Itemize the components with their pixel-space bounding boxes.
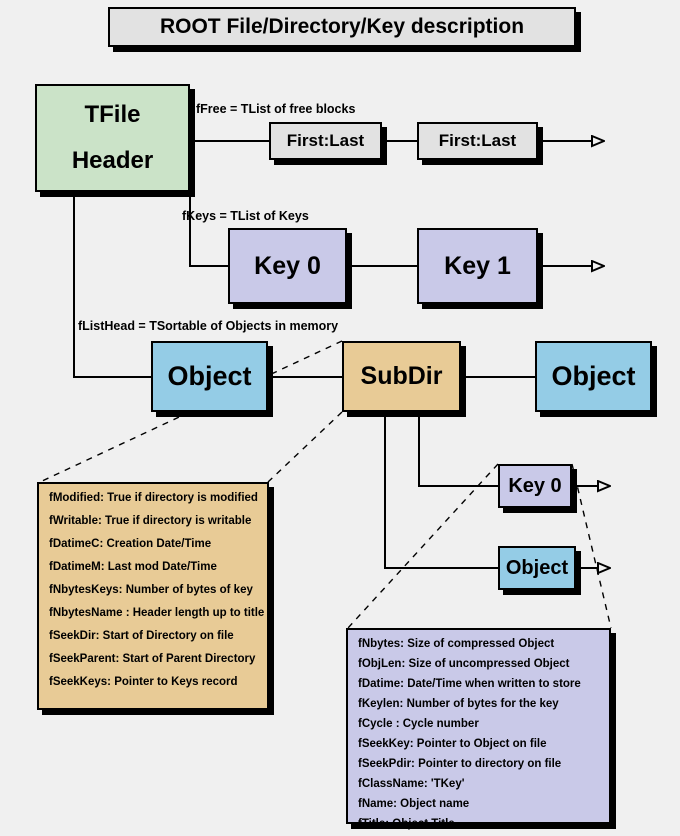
key-detail-row: fTitle: Object Title [358, 818, 599, 830]
directory-detail-row: fSeekParent: Start of Parent Directory [49, 653, 257, 665]
subdir-key-box-0-label: Key 0 [508, 475, 561, 498]
key-detail-row: fSeekPdir: Pointer to directory on file [358, 758, 599, 770]
tfile-header-box[interactable]: TFile Header [35, 84, 190, 192]
object-box-left[interactable]: Object [151, 341, 268, 412]
key-detail-row: fDatime: Date/Time when written to store [358, 678, 599, 690]
object-box-right[interactable]: Object [535, 341, 652, 412]
subdir-object-box-label: Object [506, 557, 568, 580]
free-block-0[interactable]: First:Last [269, 122, 382, 160]
key-detail-row: fNbytes: Size of compressed Object [358, 638, 599, 650]
edge-label-ffree: fFree = TList of free blocks [196, 102, 355, 116]
key-detail-row: fKeylen: Number of bytes for the key [358, 698, 599, 710]
diagram-title: ROOT File/Directory/Key description [108, 7, 576, 47]
directory-detail-row: fNbytesName : Header length up to title [49, 607, 257, 619]
key-detail-row: fCycle : Cycle number [358, 718, 599, 730]
tfile-header-line2: Header [72, 147, 153, 175]
key-detail-row: fName: Object name [358, 798, 599, 810]
directory-detail-row: fSeekKeys: Pointer to Keys record [49, 676, 257, 688]
key-box-1-label: Key 1 [444, 252, 511, 281]
subdir-key-box-0[interactable]: Key 0 [498, 464, 572, 508]
edge-label-flisthead: fListHead = TSortable of Objects in memo… [78, 319, 338, 333]
diagram-title-text: ROOT File/Directory/Key description [160, 15, 524, 39]
key-detail-row: fSeekKey: Pointer to Object on file [358, 738, 599, 750]
tfile-header-line1: TFile [84, 101, 140, 129]
key-detail-row: fObjLen: Size of uncompressed Object [358, 658, 599, 670]
diagram-canvas: ROOT File/Directory/Key description TFil… [0, 0, 680, 836]
directory-detail-row: fModified: True if directory is modified [49, 492, 257, 504]
key-detail-panel: fNbytes: Size of compressed Object fObjL… [346, 628, 611, 824]
directory-detail-row: fNbytesKeys: Number of bytes of key [49, 584, 257, 596]
directory-detail-row: fSeekDir: Start of Directory on file [49, 630, 257, 642]
subdir-box-label: SubDir [361, 362, 443, 391]
key-box-0-label: Key 0 [254, 252, 321, 281]
free-block-1-label: First:Last [439, 131, 516, 151]
free-block-0-label: First:Last [287, 131, 364, 151]
object-box-right-label: Object [551, 361, 635, 392]
edge-label-fkeys: fKeys = TList of Keys [182, 209, 309, 223]
free-block-1[interactable]: First:Last [417, 122, 538, 160]
object-box-left-label: Object [167, 361, 251, 392]
directory-detail-panel: fModified: True if directory is modified… [37, 482, 269, 710]
directory-detail-row: fDatimeC: Creation Date/Time [49, 538, 257, 550]
directory-detail-row: fWritable: True if directory is writable [49, 515, 257, 527]
subdir-box[interactable]: SubDir [342, 341, 461, 412]
directory-detail-row: fDatimeM: Last mod Date/Time [49, 561, 257, 573]
key-box-1[interactable]: Key 1 [417, 228, 538, 304]
key-detail-row: fClassName: 'TKey' [358, 778, 599, 790]
key-box-0[interactable]: Key 0 [228, 228, 347, 304]
subdir-object-box[interactable]: Object [498, 546, 576, 590]
